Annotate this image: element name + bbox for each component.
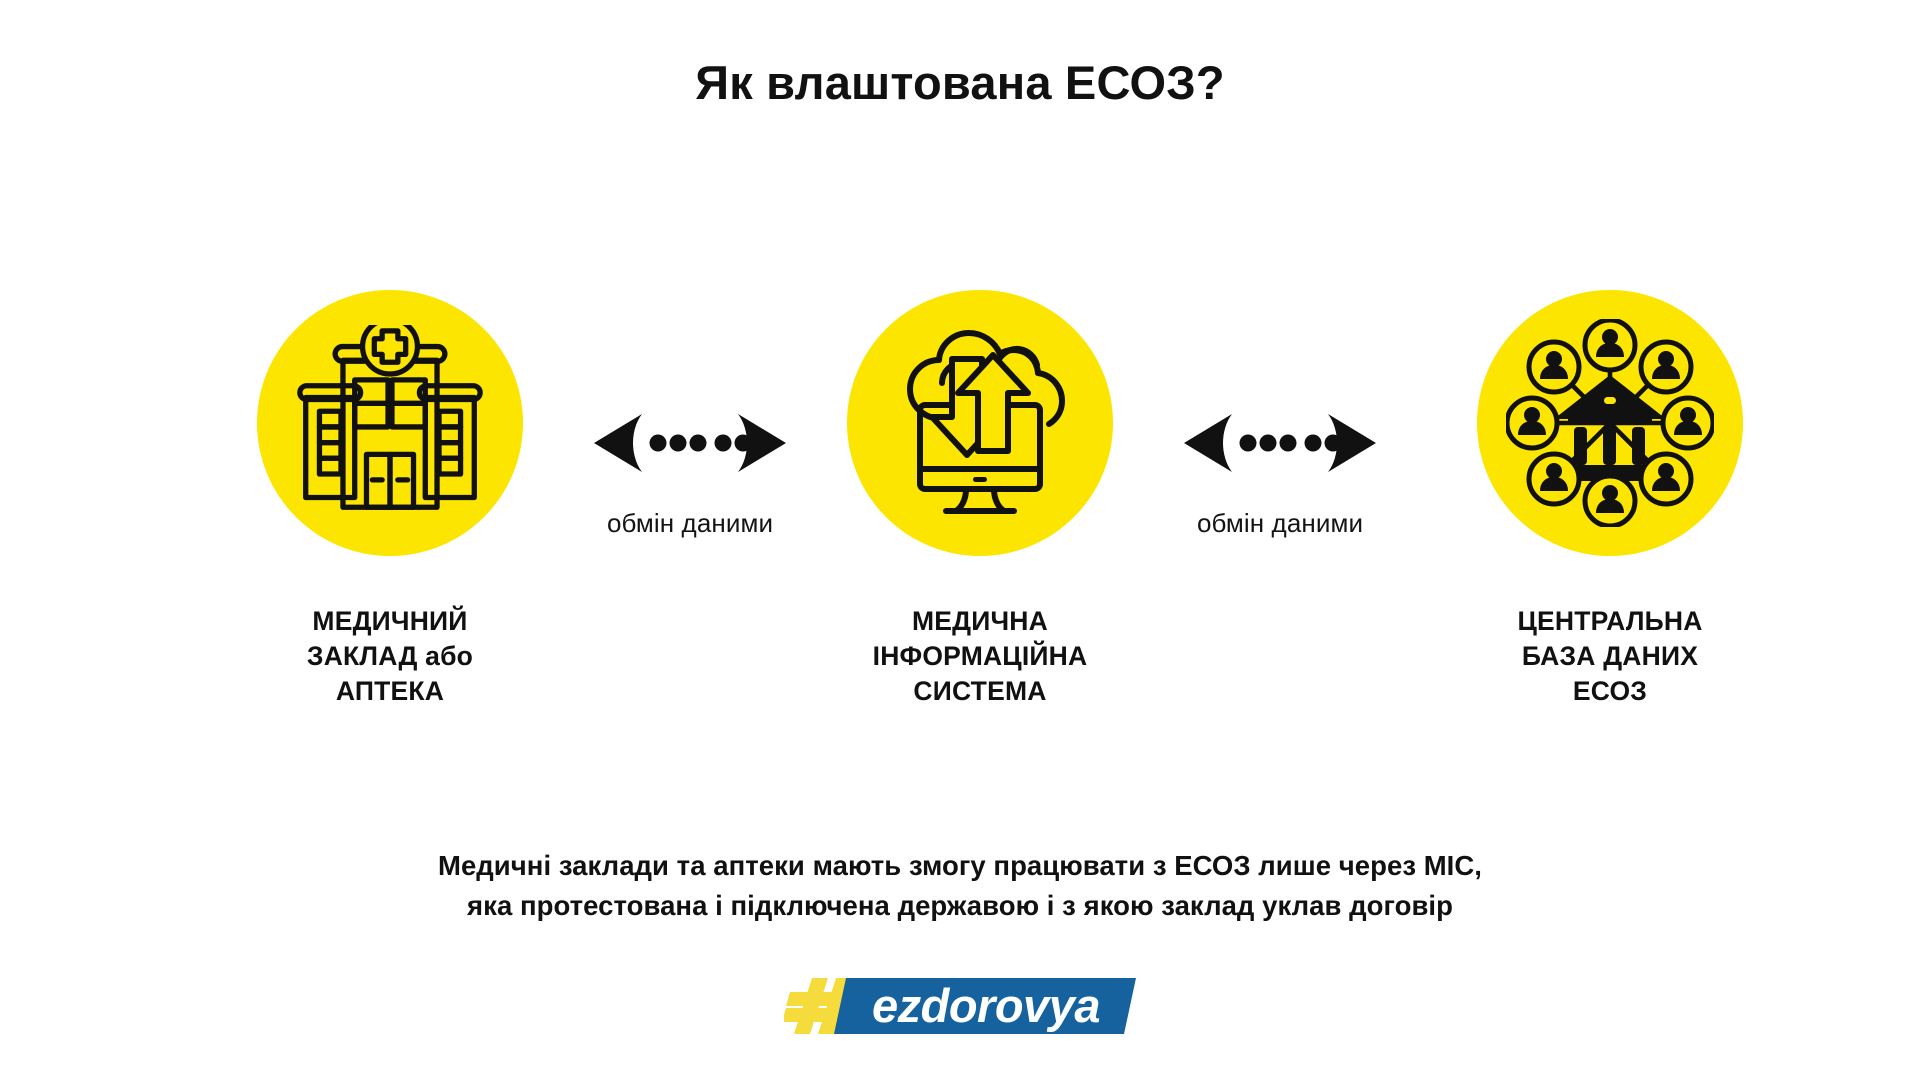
flow-node-medical-information-system: МЕДИЧНА ІНФОРМАЦІЙНА СИСТЕМА: [830, 290, 1130, 709]
flow-node-medical-facility: МЕДИЧНИЙ ЗАКЛАД або АПТЕКА: [240, 290, 540, 709]
flow-node-label: МЕДИЧНА ІНФОРМАЦІЙНА СИСТЕМА: [830, 604, 1130, 709]
connector-left: обмін даними: [560, 290, 820, 539]
connector-caption: обмін даними: [560, 508, 820, 539]
central-database-network-icon: [1506, 319, 1714, 527]
footnote-line-1: Медичні заклади та аптеки мають змогу пр…: [0, 846, 1920, 886]
flow-node-label: МЕДИЧНИЙ ЗАКЛАД або АПТЕКА: [240, 604, 540, 709]
connector-caption: обмін даними: [1150, 508, 1410, 539]
flow-node-central-database: ЦЕНТРАЛЬНА БАЗА ДАНИХ ЕСОЗ: [1460, 290, 1760, 709]
bidirectional-data-arrow-icon: [1150, 408, 1410, 478]
bidirectional-data-arrow-icon: [560, 408, 820, 478]
footnote: Медичні заклади та аптеки мають змогу пр…: [0, 846, 1920, 926]
icon-circle-medical-information-system: [847, 290, 1113, 556]
brand-logo: ezdorovya: [0, 972, 1920, 1040]
hospital-icon: [292, 325, 488, 521]
flow-node-label: ЦЕНТРАЛЬНА БАЗА ДАНИХ ЕСОЗ: [1460, 604, 1760, 709]
cloud-monitor-sync-icon: [880, 323, 1080, 523]
logo-wordmark: ezdorovya: [872, 979, 1100, 1032]
flow-diagram: МЕДИЧНИЙ ЗАКЛАД або АПТЕКА обмін даними: [0, 290, 1920, 710]
page-title: Як влаштована ЕСОЗ?: [0, 56, 1920, 110]
icon-circle-medical-facility: [257, 290, 523, 556]
connector-right: обмін даними: [1150, 290, 1410, 539]
footnote-line-2: яка протестована і підключена державою і…: [0, 886, 1920, 926]
icon-circle-central-database: [1477, 290, 1743, 556]
